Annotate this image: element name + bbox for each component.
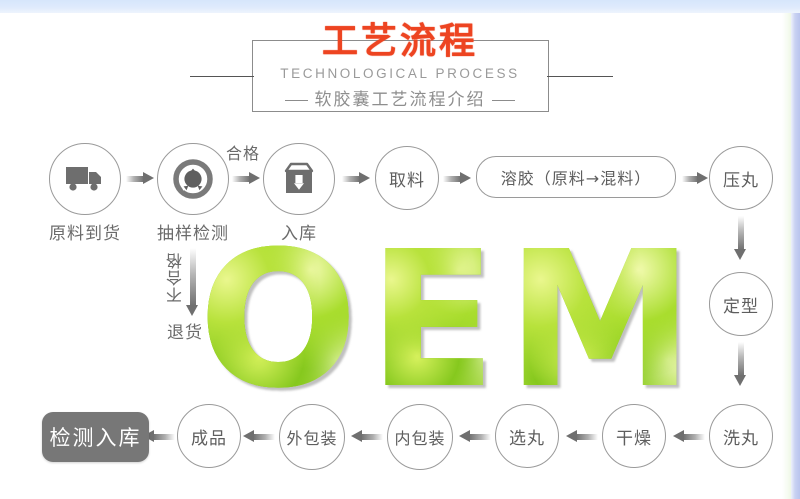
node-material-pickup[interactable]: 取料	[375, 146, 439, 210]
arrow-10-to-11	[459, 430, 491, 443]
node-raw-material-arrival[interactable]	[49, 143, 121, 215]
header-subtitle-cn: 软胶囊工艺流程介绍	[0, 90, 800, 110]
oem-letter-e: E	[368, 241, 496, 401]
node-pill-washing[interactable]: 洗丸	[709, 404, 773, 468]
arrow-6-to-7	[734, 216, 747, 260]
node-inner-packaging[interactable]: 内包装	[387, 404, 453, 470]
page-title: 工艺流程	[0, 24, 800, 60]
arrow-4-to-5	[443, 172, 471, 185]
inspection-icon	[173, 159, 213, 199]
header-subtitle-en: TECHNOLOGICAL PROCESS	[0, 66, 800, 82]
node-outer-packaging[interactable]: 外包装	[279, 404, 345, 470]
node-drying[interactable]: 干燥	[602, 404, 666, 468]
oem-letter-m: M	[507, 241, 694, 401]
inbox-arrow-down-icon	[280, 162, 318, 196]
arrow-8-to-9	[673, 430, 705, 443]
caption-raw-material-arrival: 原料到货	[25, 219, 145, 244]
node-warehouse-in[interactable]	[263, 143, 335, 215]
header: 工艺流程 TECHNOLOGICAL PROCESS 软胶囊工艺流程介绍	[0, 14, 800, 119]
truck-icon	[65, 164, 105, 194]
arrow-2-to-3	[232, 172, 260, 185]
node-shaping[interactable]: 定型	[709, 272, 773, 336]
arrow-12-to-13	[243, 430, 275, 443]
branch-label-pass: 合格	[226, 140, 260, 164]
process-flow-infographic: 工艺流程 TECHNOLOGICAL PROCESS 软胶囊工艺流程介绍 O E…	[0, 0, 800, 499]
node-finished-product[interactable]: 成品	[177, 404, 241, 468]
arrow-1-to-2	[126, 172, 154, 185]
arrow-3-to-4	[342, 172, 370, 185]
arrow-7-to-8	[734, 342, 747, 386]
oem-letter-o: O	[198, 241, 358, 401]
oem-watermark: O E M	[196, 236, 696, 406]
node-sampling-inspection[interactable]	[157, 143, 229, 215]
caption-warehouse-in: 入库	[249, 219, 349, 244]
branch-label-fail: 不合格	[164, 252, 188, 303]
caption-sampling-inspection: 抽样检测	[133, 219, 253, 244]
arrow-5-to-6	[682, 172, 708, 185]
node-gel-dissolving[interactable]: 溶胶（原料→混料）	[476, 156, 676, 198]
arrow-9-to-10	[566, 430, 598, 443]
node-pill-sorting[interactable]: 选丸	[495, 404, 559, 468]
arrow-11-to-12	[351, 430, 383, 443]
node-inspect-and-store[interactable]: 检测入库	[42, 412, 149, 462]
branch-label-return: 退货	[167, 318, 203, 343]
top-color-band	[0, 0, 800, 13]
node-pill-pressing[interactable]: 压丸	[709, 146, 773, 210]
